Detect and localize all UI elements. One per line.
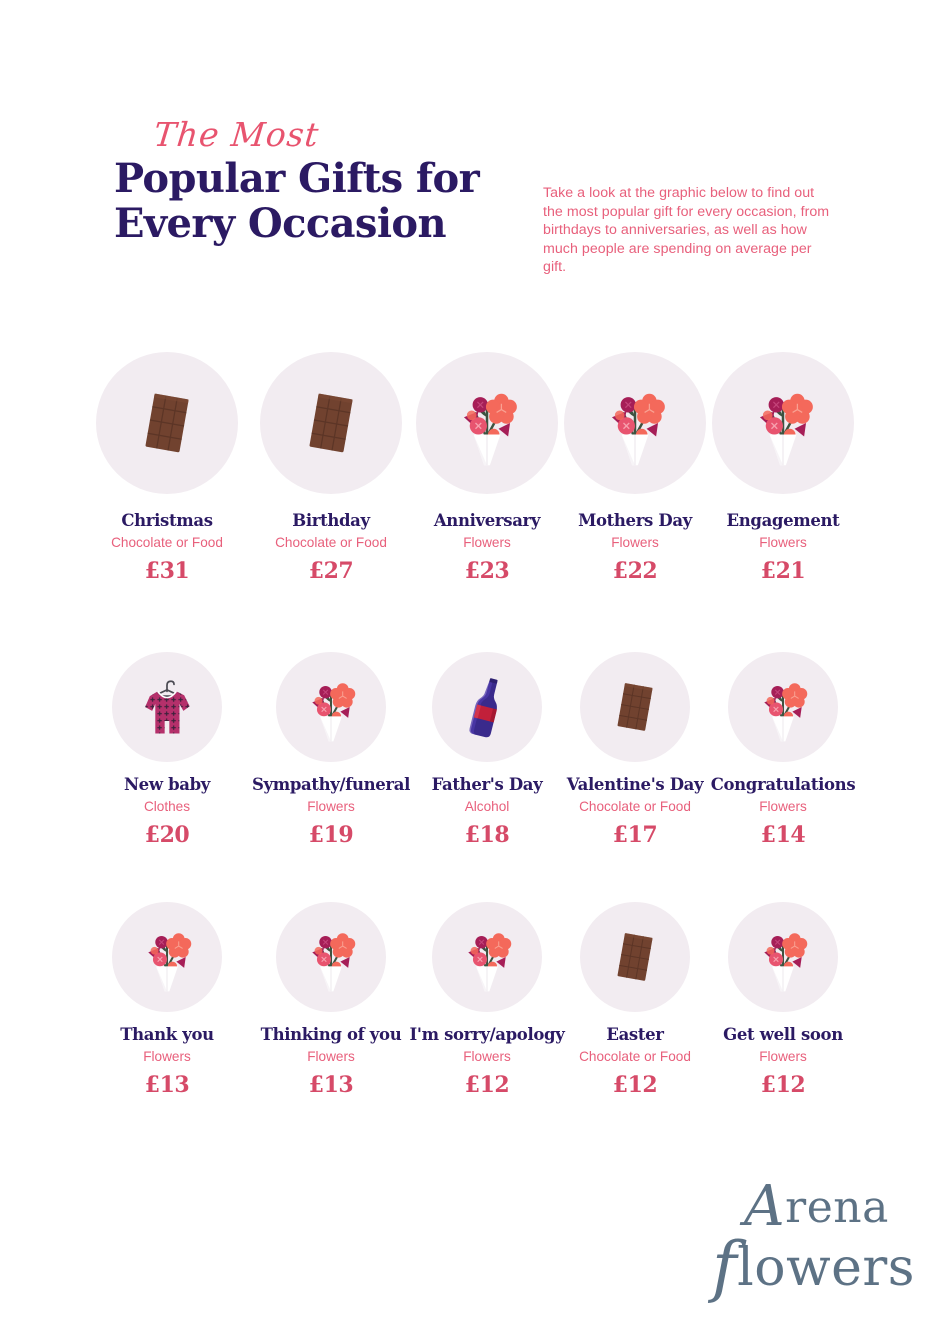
arena-flowers-logo: Arena flowers: [712, 1178, 912, 1288]
gift-type: Flowers: [688, 1049, 878, 1065]
gift-icon-circle: [580, 902, 690, 1012]
gift-row-0: ChristmasChocolate or Food£31BirthdayCho…: [0, 352, 950, 584]
gift-type: Flowers: [688, 799, 878, 815]
occasion-name: Congratulations: [688, 776, 878, 794]
occasion-name: Christmas: [72, 512, 262, 530]
gift-icon-circle: [416, 352, 558, 494]
gift-icon-circle: [112, 902, 222, 1012]
title-block: The Most Popular Gifts for Every Occasio…: [114, 118, 514, 247]
gift-icon-circle: [112, 652, 222, 762]
average-spend: £20: [72, 823, 262, 847]
gift-card: New babyClothes£20: [92, 652, 242, 848]
logo-swash-f: f: [712, 1227, 737, 1305]
intro-block: Take a look at the graphic below to find…: [543, 170, 833, 291]
gift-card: BirthdayChocolate or Food£27: [256, 352, 406, 584]
average-spend: £31: [72, 559, 262, 583]
gift-card-labels: Thank youFlowers£13: [72, 1026, 262, 1098]
header: The Most Popular Gifts for Every Occasio…: [0, 0, 950, 300]
gift-card-labels: EngagementFlowers£21: [688, 512, 878, 584]
average-spend: £13: [72, 1073, 262, 1097]
page-title-line-2: Every Occasion: [114, 202, 514, 247]
gift-type: Flowers: [688, 535, 878, 551]
occasion-name: Get well soon: [688, 1026, 878, 1044]
gift-card-labels: ChristmasChocolate or Food£31: [72, 512, 262, 584]
flower-bouquet-icon: [448, 918, 526, 996]
flower-bouquet-icon: [292, 668, 370, 746]
flower-bouquet-icon: [744, 918, 822, 996]
gift-icon-circle: [96, 352, 238, 494]
gift-card-labels: CongratulationsFlowers£14: [688, 776, 878, 848]
chocolate-bar-icon: [596, 668, 674, 746]
gift-row-1: New babyClothes£20Sympathy/funeralFlower…: [0, 652, 950, 848]
average-spend: £14: [688, 823, 878, 847]
gift-icon-circle: [712, 352, 854, 494]
flower-bouquet-icon: [292, 918, 370, 996]
gift-type: Clothes: [72, 799, 262, 815]
gift-card: Thinking of youFlowers£13: [256, 902, 406, 1098]
wine-bottle-icon: [448, 668, 526, 746]
title-script-line: The Most: [152, 118, 515, 151]
gift-card-labels: New babyClothes£20: [72, 776, 262, 848]
gift-card: Get well soonFlowers£12: [708, 902, 858, 1098]
gift-card: Sympathy/funeralFlowers£19: [256, 652, 406, 848]
gift-icon-circle: [728, 902, 838, 1012]
gift-icon-circle: [580, 652, 690, 762]
baby-clothes-icon: [128, 668, 206, 746]
gift-icon-circle: [276, 902, 386, 1012]
gift-icon-circle: [728, 652, 838, 762]
gift-type: Flowers: [72, 1049, 262, 1065]
occasion-name: New baby: [72, 776, 262, 794]
gift-row-2: Thank youFlowers£13Thinking of youFlower…: [0, 902, 950, 1098]
flower-bouquet-icon: [744, 668, 822, 746]
gift-type: Chocolate or Food: [72, 535, 262, 551]
flower-bouquet-icon: [735, 375, 831, 471]
gift-card: EngagementFlowers£21: [708, 352, 858, 584]
gift-icon-circle: [260, 352, 402, 494]
flower-bouquet-icon: [128, 918, 206, 996]
gift-card: CongratulationsFlowers£14: [708, 652, 858, 848]
chocolate-bar-icon: [119, 375, 215, 471]
flower-bouquet-icon: [439, 375, 535, 471]
gift-card: ChristmasChocolate or Food£31: [92, 352, 242, 584]
gift-card-labels: Get well soonFlowers£12: [688, 1026, 878, 1098]
gift-icon-circle: [276, 652, 386, 762]
gift-icon-circle: [432, 902, 542, 1012]
gift-icon-circle: [564, 352, 706, 494]
average-spend: £21: [688, 559, 878, 583]
logo-line-arena: Arena: [744, 1178, 912, 1230]
gift-icon-circle: [432, 652, 542, 762]
gift-card: Thank youFlowers£13: [92, 902, 242, 1098]
occasion-name: Thank you: [72, 1026, 262, 1044]
intro-text: Take a look at the graphic below to find…: [543, 184, 833, 276]
logo-swash-a: A: [744, 1174, 785, 1239]
chocolate-bar-icon: [596, 918, 674, 996]
chocolate-bar-icon: [283, 375, 379, 471]
flower-bouquet-icon: [587, 375, 683, 471]
occasion-name: Engagement: [688, 512, 878, 530]
page-title: Popular Gifts for Every Occasion: [114, 157, 514, 247]
average-spend: £12: [688, 1073, 878, 1097]
logo-line-flowers: flowers: [712, 1232, 912, 1293]
page-title-line-1: Popular Gifts for: [114, 157, 514, 202]
